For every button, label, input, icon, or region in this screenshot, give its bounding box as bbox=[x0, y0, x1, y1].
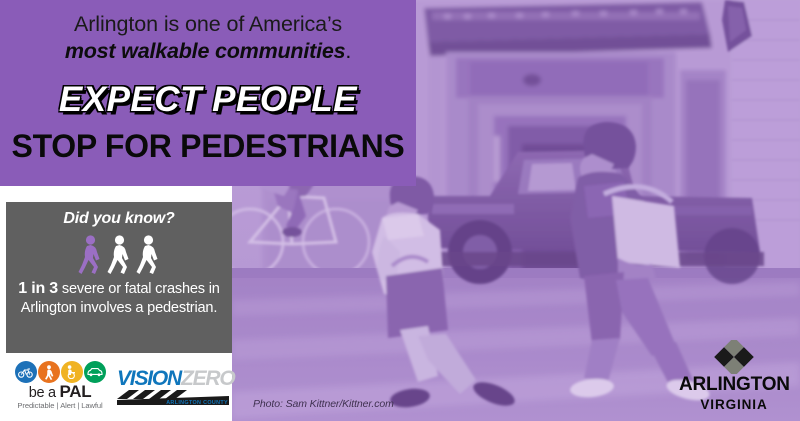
be-a-pal-tagline-part-1: Predictable bbox=[16, 401, 55, 410]
vision-zero-wordmark: VISIONZERO bbox=[117, 368, 229, 389]
wheelchair-icon bbox=[61, 361, 83, 383]
be-a-pal-icon-circles bbox=[11, 361, 109, 383]
pedestrian-icon bbox=[38, 361, 60, 383]
be-a-pal-tagline-part-3: Lawful bbox=[80, 401, 103, 410]
car-icon bbox=[84, 361, 106, 383]
pedestrian-walking-icon-purple bbox=[78, 235, 103, 275]
vision-zero-chevron-bars: ARLINGTON COUNTY bbox=[117, 390, 229, 406]
fact-box-statistic-emphasis: 1 in 3 bbox=[18, 280, 58, 297]
vision-zero-logo: VISIONZERO ARLINGTON COUNTY bbox=[117, 368, 229, 406]
be-a-pal-tagline: Predictable|Alert|Lawful bbox=[11, 401, 109, 410]
pedestrian-glyph bbox=[44, 365, 54, 380]
arlington-logo-state: VIRGINIA bbox=[679, 398, 789, 412]
wheelchair-glyph bbox=[65, 365, 78, 379]
fact-box: Did you know? 1 in 3 severe or fatal cra… bbox=[6, 202, 232, 353]
headline-line-1: Arlington is one of America’s bbox=[0, 10, 416, 38]
fact-box-statistic: 1 in 3 severe or fatal crashes in Arling… bbox=[6, 275, 232, 318]
be-a-pal-name: be a PAL bbox=[11, 383, 109, 401]
bicycle-icon bbox=[15, 361, 37, 383]
pedestrian-walking-icon-white-2 bbox=[136, 235, 161, 275]
headline-line-2-emphasis: most walkable communities bbox=[65, 39, 346, 63]
bicycle-glyph bbox=[18, 367, 33, 378]
car-glyph bbox=[87, 367, 103, 377]
arlington-logo-name: ARLINGTON bbox=[679, 375, 789, 394]
vision-zero-subtitle: ARLINGTON COUNTY bbox=[166, 400, 228, 406]
poster: Arlington is one of America’s most walka… bbox=[0, 0, 800, 421]
fact-box-title: Did you know? bbox=[6, 210, 232, 228]
be-a-pal-name-acronym: PAL bbox=[59, 382, 91, 401]
slogan-primary: EXPECT PEOPLE bbox=[0, 82, 416, 117]
headline-line-2: most walkable communities. bbox=[0, 38, 416, 66]
logo-row: be a PAL Predictable|Alert|Lawful VISION… bbox=[0, 356, 232, 421]
headline-line-2-period: . bbox=[345, 39, 351, 63]
be-a-pal-tagline-part-2: Alert bbox=[59, 401, 76, 410]
be-a-pal-logo: be a PAL Predictable|Alert|Lawful bbox=[11, 361, 109, 410]
vision-zero-word-vision: VISION bbox=[117, 367, 181, 390]
be-a-pal-name-prefix: be a bbox=[29, 385, 60, 401]
arlington-diamond-glyph bbox=[703, 340, 765, 374]
pedestrian-walking-icon-white-1 bbox=[107, 235, 132, 275]
vision-zero-word-zero: ZERO bbox=[181, 367, 235, 390]
headline-banner-content: Arlington is one of America’s most walka… bbox=[0, 10, 416, 162]
arlington-virginia-logo: ARLINGTON VIRGINIA bbox=[679, 340, 789, 412]
pedestrian-icon-group bbox=[6, 233, 232, 275]
arlington-diamond-mark bbox=[679, 340, 789, 374]
photo-credit: Photo: Sam Kittner/Kittner.com bbox=[253, 398, 394, 410]
slogan-secondary: STOP FOR PEDESTRIANS bbox=[0, 130, 416, 162]
headline-banner: Arlington is one of America’s most walka… bbox=[0, 0, 416, 186]
